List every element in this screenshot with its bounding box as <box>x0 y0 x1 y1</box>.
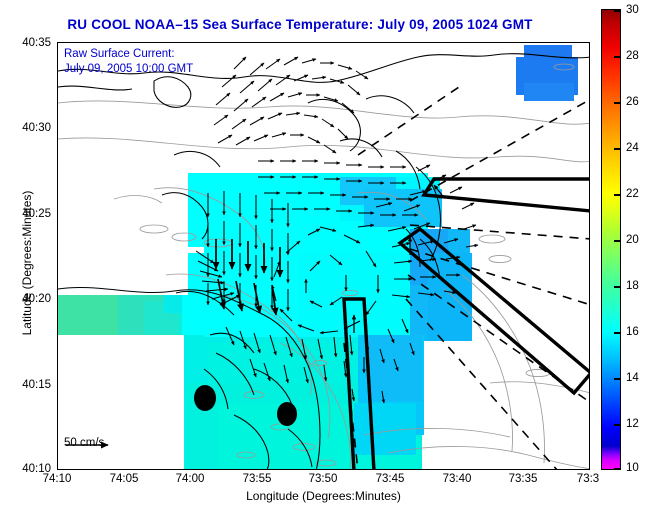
xtick-1: 74:05 <box>110 473 139 485</box>
xtick-7: 73:35 <box>509 473 538 485</box>
scale-bar-arrow-icon <box>64 440 118 450</box>
cbtick-4: 22 <box>626 188 639 200</box>
station-marker-west[interactable] <box>194 385 216 411</box>
xtick-6: 73:40 <box>443 473 472 485</box>
overlay-caption: Raw Surface Current: July 09, 2005 10:00… <box>64 47 193 77</box>
cbtick-5: 20 <box>626 234 639 246</box>
sst-figure: RU COOL NOAA–15 Sea Surface Temperature:… <box>0 0 651 518</box>
y-axis-label: Latitude (Degrees:Minutes) <box>20 173 34 353</box>
cbtick-7: 16 <box>626 326 639 338</box>
vector-scale-bar: 50 cm/s <box>64 437 104 449</box>
map-canvas <box>58 43 590 470</box>
xtick-3: 73:55 <box>243 473 272 485</box>
xtick-2: 74:00 <box>176 473 205 485</box>
cbtick-6: 18 <box>626 280 639 292</box>
overlay-caption-line2: July 09, 2005 10:00 GMT <box>64 62 193 77</box>
x-axis-label: Longitude (Degrees:Minutes) <box>57 489 590 503</box>
cbtick-9: 12 <box>626 418 639 430</box>
map-plot-area[interactable]: Raw Surface Current: July 09, 2005 10:00… <box>57 42 590 470</box>
xtick-5: 73:45 <box>376 473 405 485</box>
cbtick-8: 14 <box>626 372 639 384</box>
overlay-caption-line1: Raw Surface Current: <box>64 47 193 62</box>
cbtick-1: 28 <box>626 50 639 62</box>
cbtick-3: 24 <box>626 142 639 154</box>
xtick-8: 73:3 <box>577 473 599 485</box>
ytick-1: 40:30 <box>22 122 51 134</box>
xtick-4: 73:50 <box>309 473 338 485</box>
station-marker-east[interactable] <box>277 402 297 426</box>
ytick-0: 40:35 <box>22 37 51 49</box>
cbtick-0: 30 <box>626 4 639 16</box>
ytick-4: 40:15 <box>22 379 51 391</box>
cbtick-2: 26 <box>626 96 639 108</box>
cbtick-10: 10 <box>626 462 639 474</box>
page-title: RU COOL NOAA–15 Sea Surface Temperature:… <box>0 17 600 32</box>
ytick-5: 40:10 <box>22 463 51 475</box>
